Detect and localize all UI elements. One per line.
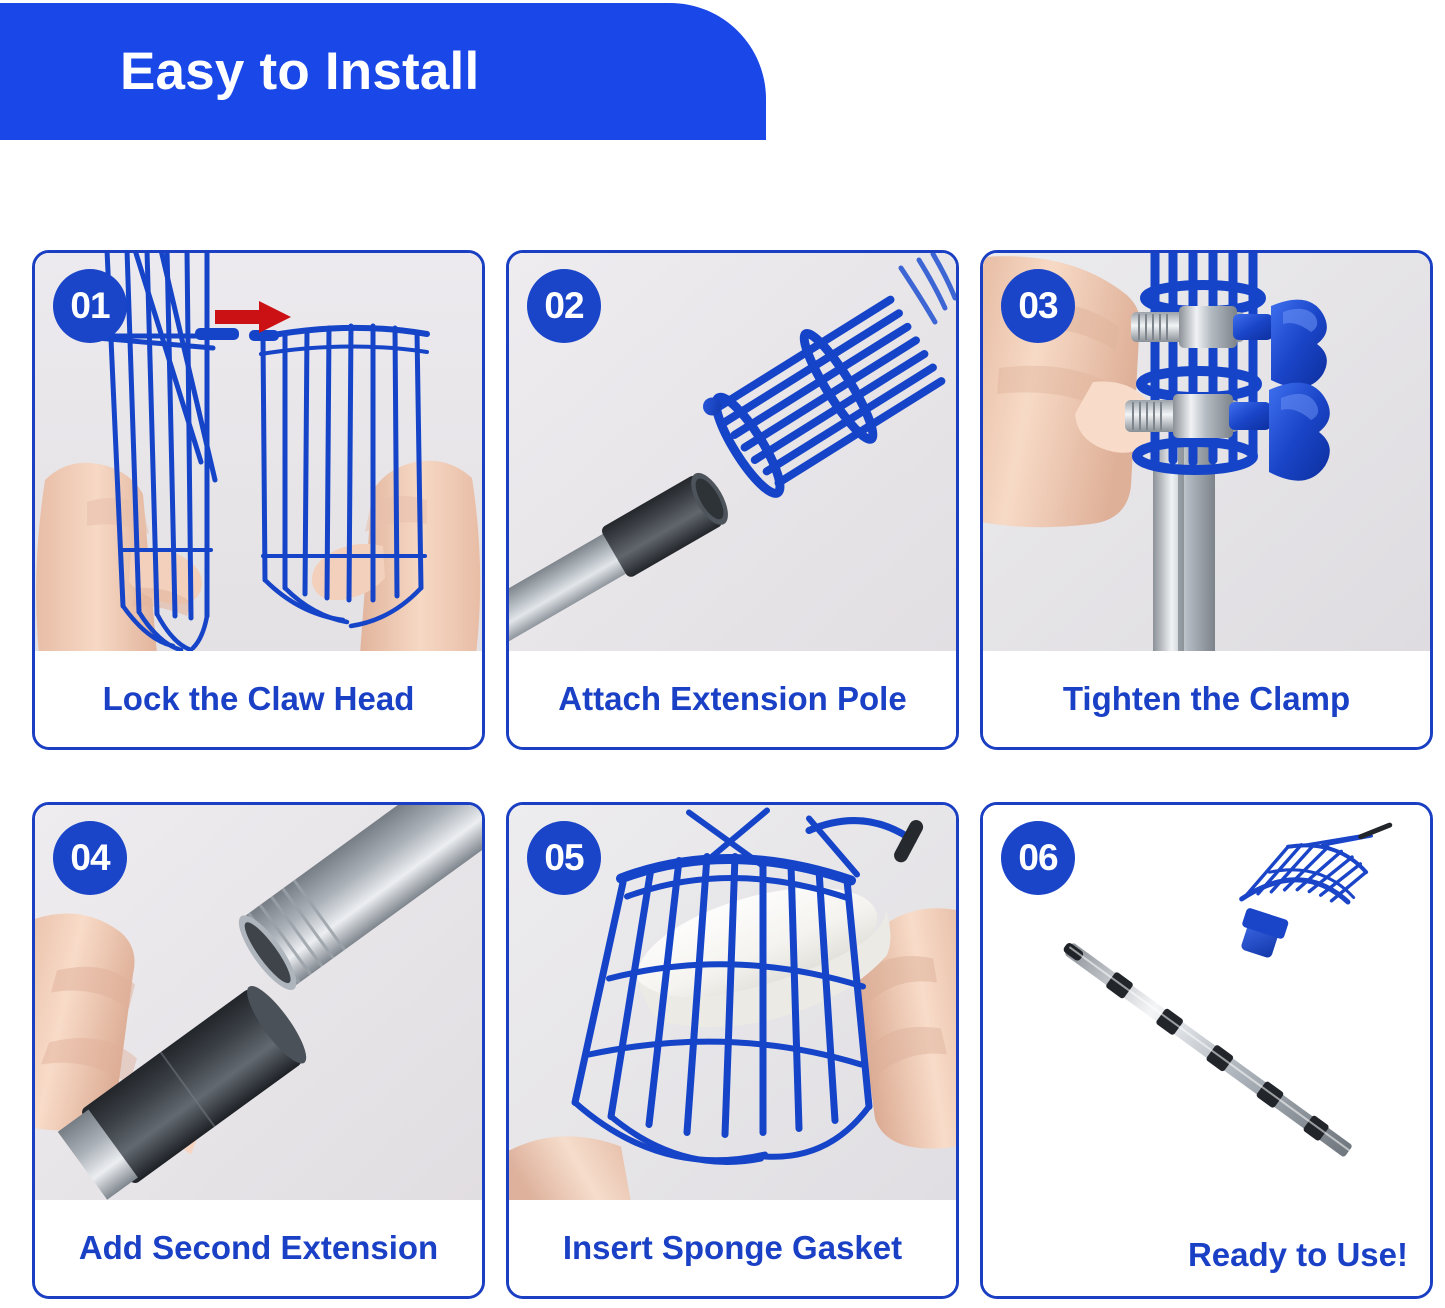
step-card-05[interactable]: 05 Insert Sponge Gasket <box>506 802 959 1299</box>
step-caption-01: Lock the Claw Head <box>35 651 482 747</box>
step-badge-06: 06 <box>1001 821 1075 895</box>
step-badge-05: 05 <box>527 821 601 895</box>
step-badge-02: 02 <box>527 269 601 343</box>
step-badge-03: 03 <box>1001 269 1075 343</box>
step-card-03[interactable]: 03 Tighten the Clamp <box>980 250 1433 750</box>
step-card-04[interactable]: 04 Add Second Extension <box>32 802 485 1299</box>
step-photo-04: 04 <box>35 805 482 1200</box>
step-card-06[interactable]: 06 Ready to Use! <box>980 802 1433 1299</box>
step-photo-01: 01 <box>35 253 482 651</box>
step-card-01[interactable]: 01 Lock the Claw Head <box>32 250 485 750</box>
step-caption-06: Ready to Use! <box>1188 1236 1408 1274</box>
step-badge-01: 01 <box>53 269 127 343</box>
page-title: Easy to Install <box>120 45 479 98</box>
step-photo-06: 06 Ready to Use! <box>983 805 1430 1296</box>
step-caption-05: Insert Sponge Gasket <box>509 1200 956 1296</box>
step-photo-05: 05 <box>509 805 956 1200</box>
header-banner: Easy to Install <box>0 3 766 140</box>
step-badge-04: 04 <box>53 821 127 895</box>
step-photo-02: 02 <box>509 253 956 651</box>
step-caption-04: Add Second Extension <box>35 1200 482 1296</box>
steps-grid: 01 Lock the Claw Head <box>32 250 1413 1299</box>
step-caption-03: Tighten the Clamp <box>983 651 1430 747</box>
step-photo-03: 03 <box>983 253 1430 651</box>
step-caption-02: Attach Extension Pole <box>509 651 956 747</box>
step-card-02[interactable]: 02 Attach Extension Pole <box>506 250 959 750</box>
right-arrow-icon <box>215 301 291 333</box>
